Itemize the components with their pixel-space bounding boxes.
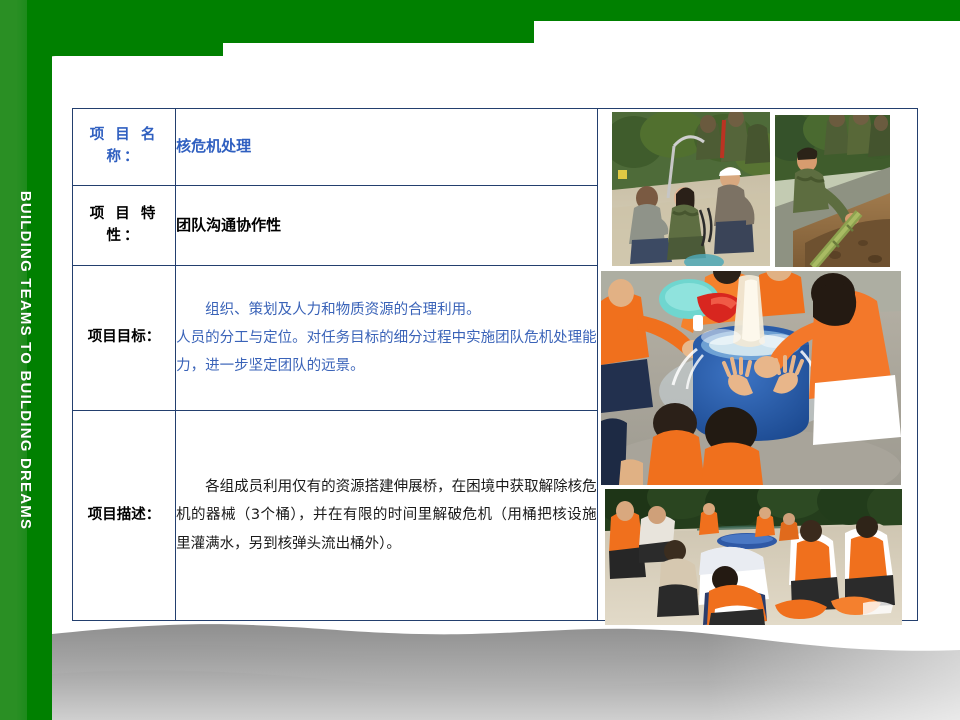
mist-hills-svg [52,612,960,720]
row-value-project-name: 核危机处理 [176,109,597,186]
table-row: 项 目 名 称： 核危机处理 [73,109,918,186]
project-spec-table: 项 目 名 称： 核危机处理 项 目 特 性： 团队沟通协作性 项目目标： 组织… [72,108,918,621]
row-value-project-goal: 组织、策划及人力和物质资源的合理利用。 人员的分工与定位。对任务目标的细分过程中… [176,266,597,411]
slide-canvas: BUILDING TEAMS TO BUILDING DREAMS [0,0,960,720]
sidebar-gradient-stripe [0,0,27,720]
sidebar-green-bar [0,0,52,720]
sidebar-solid-stripe [27,0,52,720]
header-green-step-second [0,21,534,43]
row-label-project-name: 项 目 名 称： [73,109,176,186]
decorative-mist-hills [52,612,960,720]
goal-line-2: 人员的分工与定位。对任务目标的细分过程中实施团队危机处理能力，进一步坚定团队的远… [176,324,596,381]
mist-right-fade [52,612,960,720]
row-label-project-trait: 项 目 特 性： [73,186,176,266]
header-green-band-top [0,0,960,21]
desc-line-1: 各组成员利用仅有的资源搭建伸展桥，在困境中获取解除核危机的器械（3个桶），并在有… [176,473,596,558]
row-value-project-desc: 各组成员利用仅有的资源搭建伸展桥，在困境中获取解除核危机的器械（3个桶），并在有… [176,411,597,621]
photo-column [597,109,917,621]
row-value-project-trait: 团队沟通协作性 [176,186,597,266]
goal-line-1: 组织、策划及人力和物质资源的合理利用。 [176,296,596,324]
row-label-project-goal: 项目目标： [73,266,176,411]
row-label-project-desc: 项目描述： [73,411,176,621]
